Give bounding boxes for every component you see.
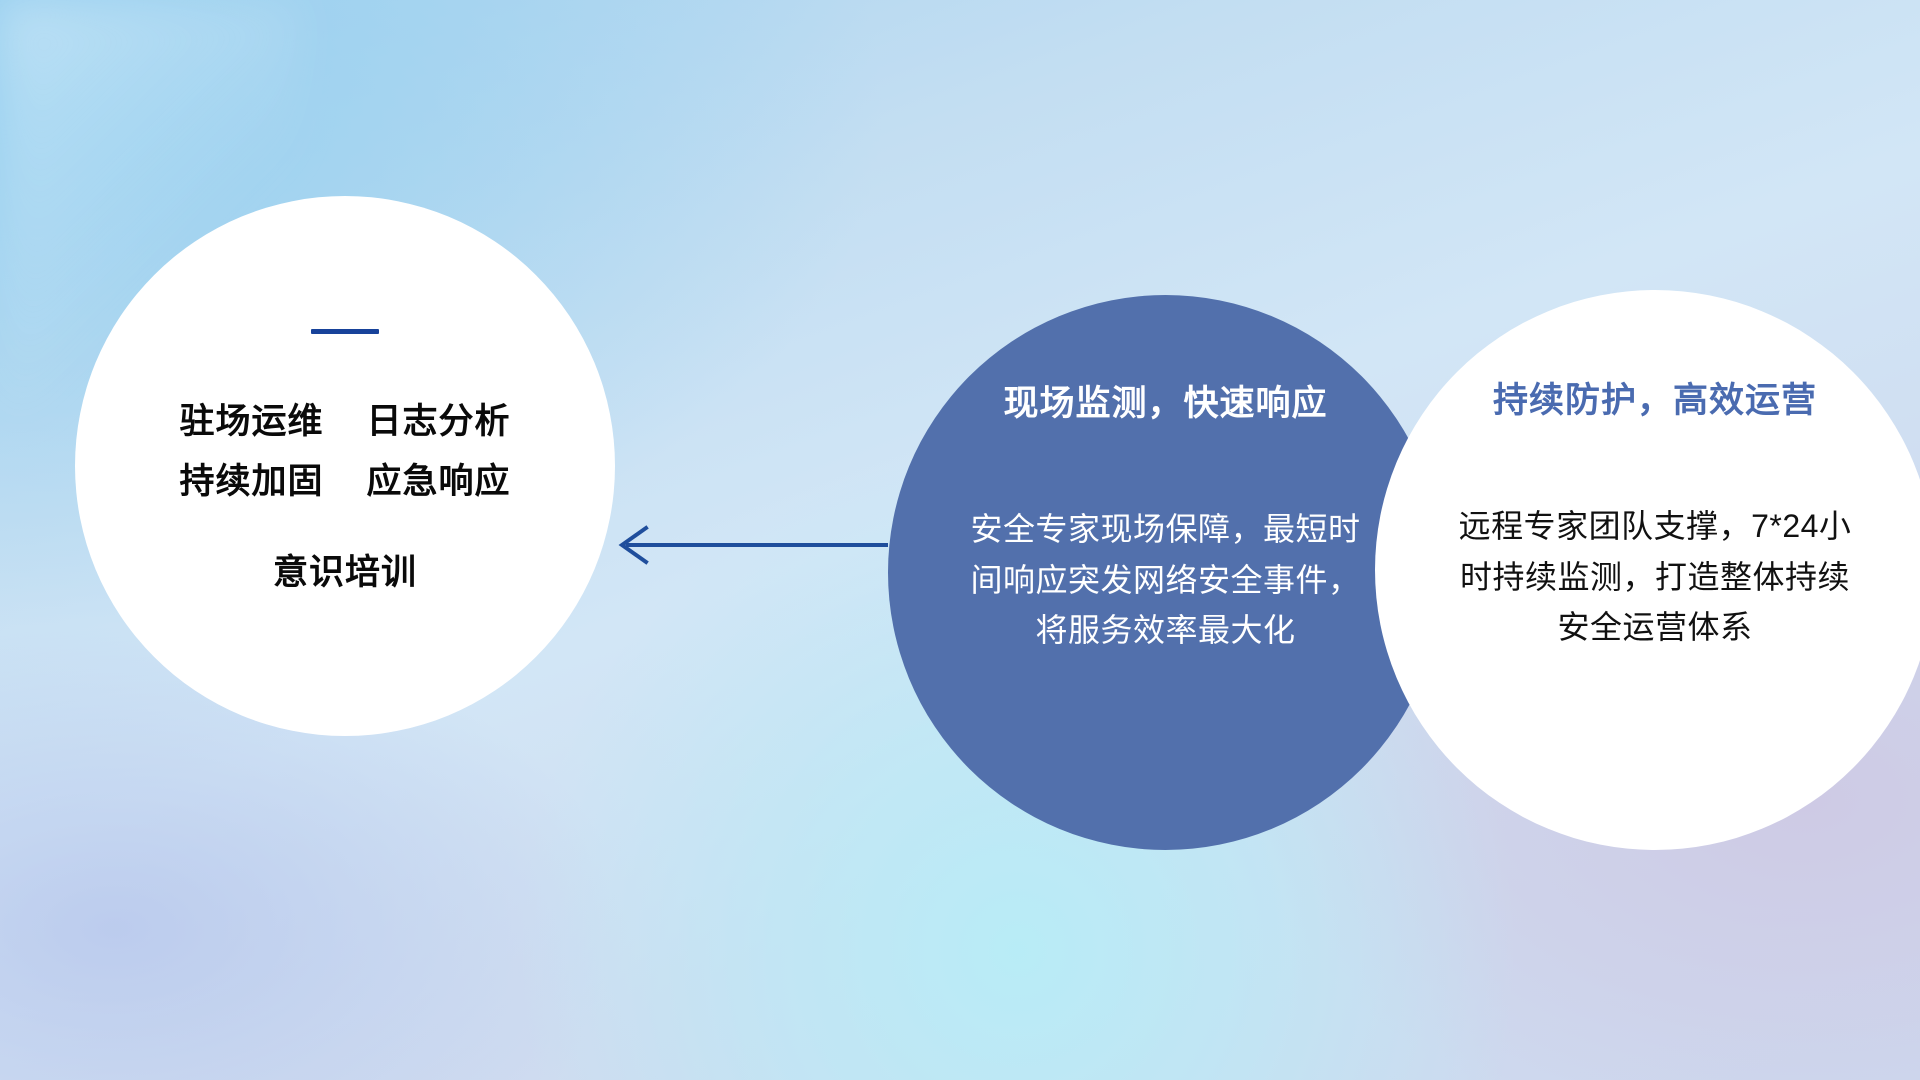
- continuous-protection-body: 远程专家团队支撑，7*24小时持续监测，打造整体持续安全运营体系: [1446, 501, 1864, 653]
- onsite-monitoring-body: 安全专家现场保障，最短时间响应突发网络安全事件，将服务效率最大化: [970, 504, 1362, 656]
- capability-line-2: 持续加固 应急响应: [180, 452, 511, 512]
- capability-list: 驻场运维 日志分析 持续加固 应急响应 意识培训: [180, 392, 511, 603]
- continuous-protection-circle: 持续防护，高效运营 远程专家团队支撑，7*24小时持续监测，打造整体持续安全运营…: [1375, 290, 1920, 850]
- driver-capabilities-circle: 驻场运维 日志分析 持续加固 应急响应 意识培训: [75, 196, 615, 736]
- capability-line-1: 驻场运维 日志分析: [180, 392, 511, 452]
- continuous-protection-title: 持续防护，高效运营: [1493, 372, 1817, 423]
- leftward-flow-arrow: [600, 520, 890, 570]
- capability-line-3: 意识培训: [180, 543, 511, 603]
- onsite-monitoring-title: 现场监测，快速响应: [1003, 375, 1327, 426]
- divider-bar: [311, 329, 379, 334]
- onsite-monitoring-circle: 现场监测，快速响应 安全专家现场保障，最短时间响应突发网络安全事件，将服务效率最…: [888, 295, 1443, 850]
